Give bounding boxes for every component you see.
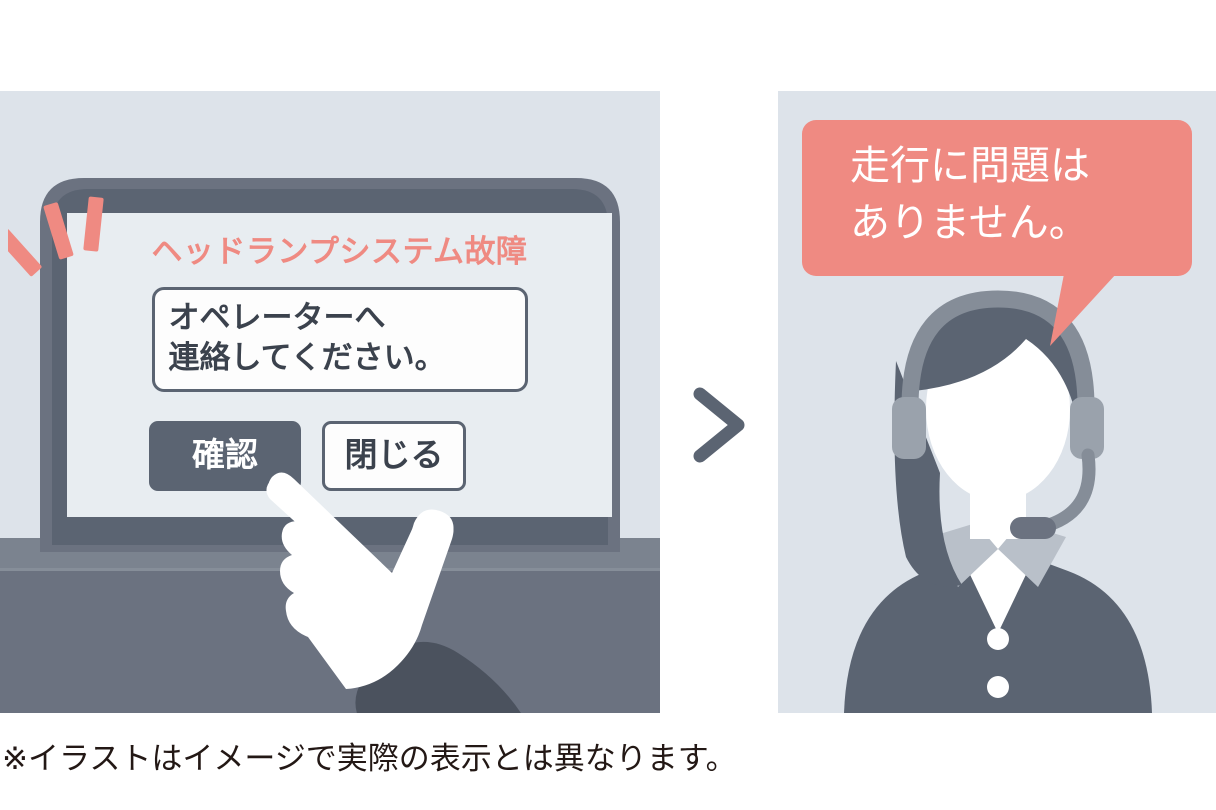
message-line-1: オペレーターへ — [169, 299, 511, 339]
jacket-button-2 — [987, 676, 1009, 698]
message-box: オペレーターへ 連絡してください。 — [152, 287, 528, 392]
illustration-stage: ヘッドランプシステム故障 オペレーターへ 連絡してください。 確認 閉じる — [0, 0, 1216, 810]
vehicle-display-panel: ヘッドランプシステム故障 オペレーターへ 連絡してください。 確認 閉じる — [0, 91, 660, 713]
bubble-line-1: 走行に問題は — [850, 138, 1192, 195]
speech-bubble-tail — [1050, 274, 1140, 354]
screen-content: ヘッドランプシステム故障 オペレーターへ 連絡してください。 確認 閉じる — [67, 213, 612, 517]
screen-button-row: 確認 閉じる — [67, 421, 612, 491]
alert-title: ヘッドランプシステム故障 — [67, 235, 612, 269]
headset-mic-tip — [1010, 517, 1056, 539]
confirm-button[interactable]: 確認 — [149, 421, 301, 491]
speech-bubble: 走行に問題は ありません。 — [802, 120, 1192, 276]
operator-headset-avatar — [788, 241, 1208, 713]
illustration-disclaimer-caption: ※イラストはイメージで実際の表示とは異なります。 — [2, 741, 1102, 778]
alert-burst-icon — [8, 191, 128, 291]
operator-panel: 走行に問題は ありません。 — [778, 91, 1216, 713]
close-button[interactable]: 閉じる — [322, 421, 466, 491]
chevron-right-icon — [676, 380, 766, 470]
jacket-button-1 — [987, 628, 1009, 650]
headset-earcup-left — [892, 397, 926, 459]
bubble-line-2: ありません。 — [850, 195, 1192, 252]
message-line-2: 連絡してください。 — [169, 339, 511, 379]
